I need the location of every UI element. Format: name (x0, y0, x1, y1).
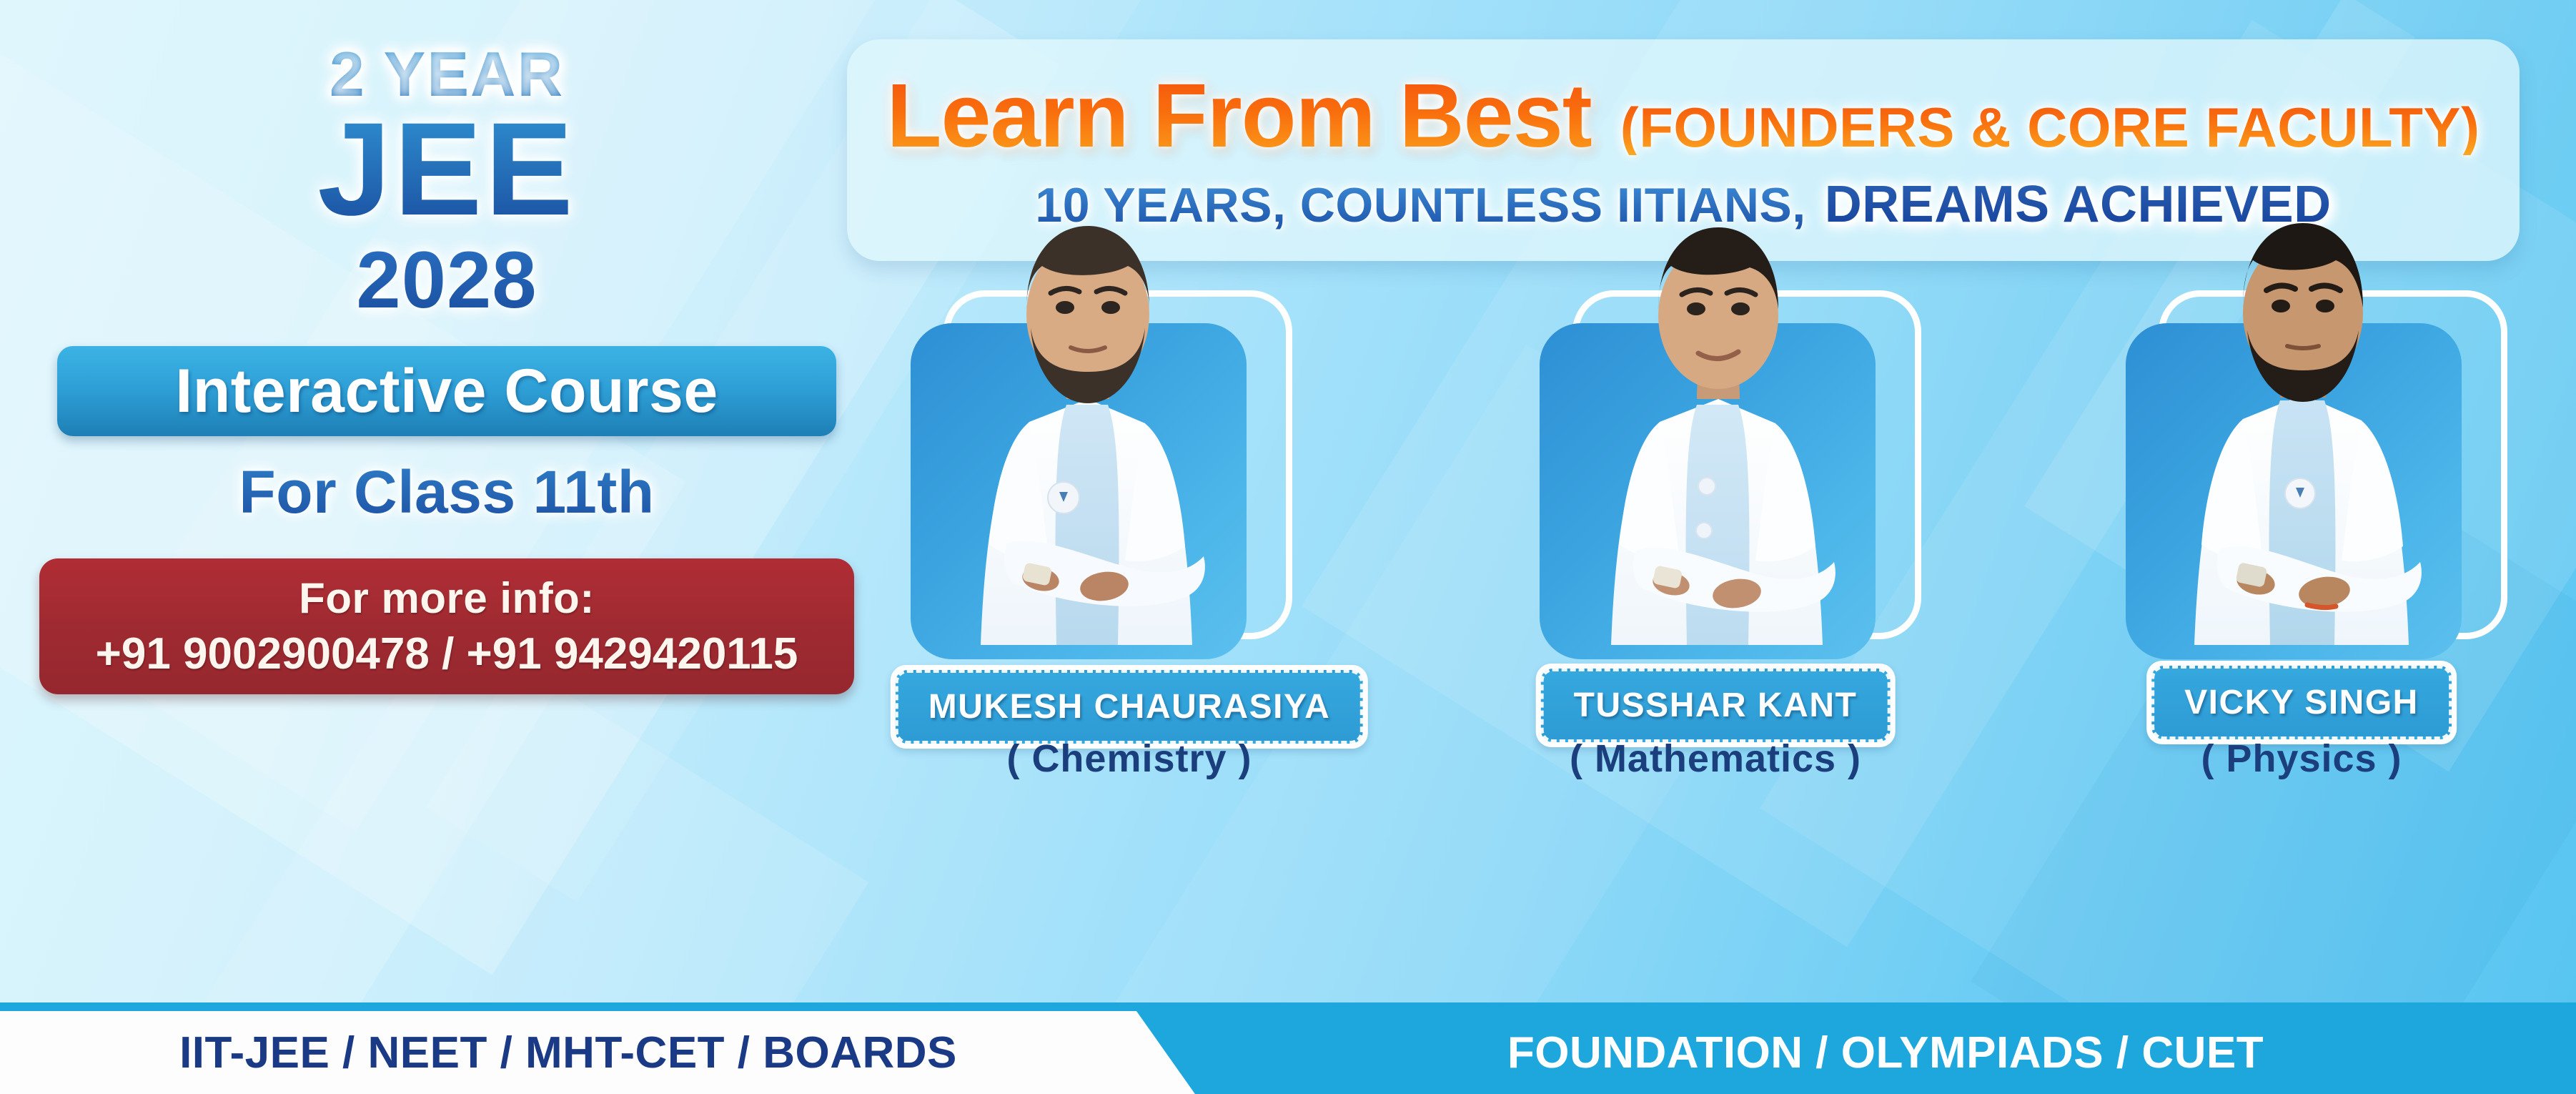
nameplate-inner: VICKY SINGH (2151, 666, 2452, 739)
footer-bar: IIT-JEE / NEET / MHT-CET / BOARDS FOUNDA… (0, 1011, 2576, 1094)
headline-title: Learn From Best (887, 71, 1592, 161)
faculty-card[interactable]: MUKESH CHAURASIYA ( Chemistry ) (879, 307, 1379, 965)
faculty-portrait-vicky (2116, 207, 2487, 665)
promo-banner: 2 YEAR JEE 2028 Interactive Course For C… (0, 0, 2576, 1094)
faculty-name: VICKY SINGH (2184, 683, 2419, 722)
faculty-name: MUKESH CHAURASIYA (928, 687, 1330, 726)
faculty-card[interactable]: VICKY SINGH ( Physics ) (2051, 307, 2552, 965)
faculty-portrait-mukesh (901, 207, 1272, 665)
footer-accent-strip (0, 1002, 2576, 1011)
faculty-subject: ( Chemistry ) (879, 736, 1379, 781)
faculty-photo-frame (901, 307, 1272, 651)
faculty-name: TUSSHAR KANT (1574, 686, 1858, 725)
class-level-text: For Class 11th (0, 458, 893, 527)
faculty-photo-frame (2116, 307, 2487, 651)
exam-name-text: JEE (0, 109, 893, 230)
course-info-column: 2 YEAR JEE 2028 Interactive Course For C… (0, 43, 893, 694)
faculty-subject: ( Mathematics ) (1465, 736, 1966, 781)
interactive-course-badge: Interactive Course (57, 346, 836, 436)
faculty-nameplate: TUSSHAR KANT (1536, 664, 1896, 747)
faculty-portrait-tusshar (1530, 207, 1901, 665)
contact-numbers[interactable]: +91 9002900478 / +91 9429420115 (96, 629, 798, 679)
headline-row: Learn From Best (FOUNDERS & CORE FACULTY… (887, 71, 2480, 161)
contact-label: For more info: (299, 573, 595, 623)
interactive-course-label: Interactive Course (175, 356, 718, 427)
nameplate-inner: TUSSHAR KANT (1541, 669, 1891, 742)
faculty-list: MUKESH CHAURASIYA ( Chemistry ) (879, 307, 2552, 965)
faculty-nameplate: VICKY SINGH (2146, 661, 2457, 744)
nameplate-inner: MUKESH CHAURASIYA (896, 670, 1363, 744)
footer-right-text: FOUNDATION / OLYMPIADS / CUET (1195, 1011, 2576, 1094)
footer-left-text: IIT-JEE / NEET / MHT-CET / BOARDS (0, 1011, 1136, 1094)
faculty-card[interactable]: TUSSHAR KANT ( Mathematics ) (1465, 307, 1966, 965)
faculty-subject: ( Physics ) (2051, 736, 2552, 781)
contact-info-box[interactable]: For more info: +91 9002900478 / +91 9429… (39, 558, 854, 694)
faculty-photo-frame (1530, 307, 1901, 651)
headline-title-suffix: (FOUNDERS & CORE FACULTY) (1620, 99, 2480, 155)
target-year-text: 2028 (0, 240, 893, 320)
